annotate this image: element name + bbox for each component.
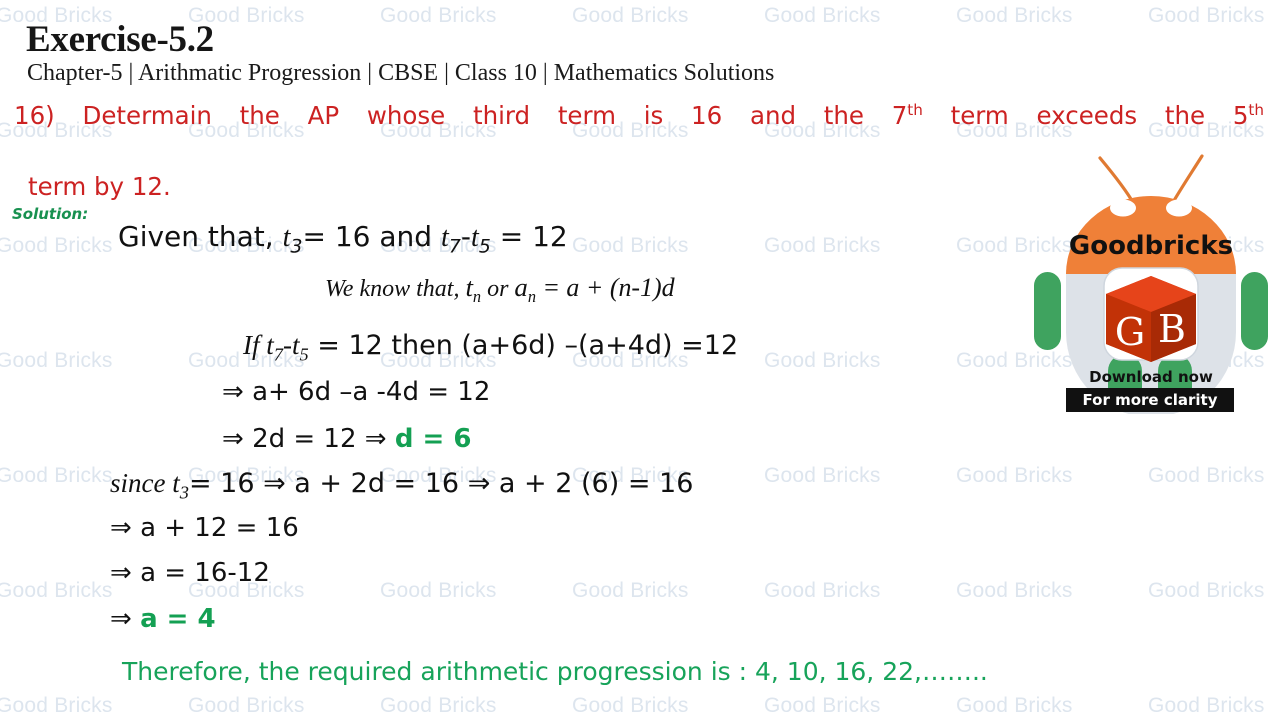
conclusion-text: Therefore, the required arithmetic progr… — [122, 657, 988, 686]
if-subscript-5: 5 — [299, 344, 308, 364]
since-equals-16: = 16 — [189, 468, 263, 499]
formula-t-symbol: t — [465, 272, 472, 302]
given-equals-16: = 16 and — [302, 220, 440, 253]
given-subscript-3: 3 — [290, 236, 302, 258]
implies-arrow-icon: ⇒ — [468, 468, 491, 499]
robot-arm-right — [1241, 272, 1268, 350]
slide-canvas: Good BricksGood BricksGood BricksGood Br… — [0, 0, 1280, 720]
robot-arm-left — [1034, 272, 1061, 350]
math-line-step-2: ⇒ 2d = 12 ⇒ d = 6 — [222, 424, 471, 454]
given-t7-symbol: t — [441, 222, 449, 253]
for-more-clarity-banner[interactable]: For more clarity — [1066, 388, 1234, 412]
since-substitution-2: a + 2 (6) = 16 — [490, 468, 693, 499]
implies-arrow-icon: ⇒ — [222, 377, 244, 407]
question-line-1-part-a: 16) Determain the AP whose third term is… — [14, 101, 907, 130]
math-line-formula: We know that, tn or an = a + (n-1)d — [325, 272, 675, 307]
given-minus: - — [461, 220, 471, 253]
implies-arrow-icon: ⇒ — [222, 424, 244, 454]
given-prefix: Given that, — [118, 220, 283, 253]
math-line-since: since t3= 16 ⇒ a + 2d = 16 ⇒ a + 2 (6) =… — [110, 468, 693, 503]
implies-arrow-icon: ⇒ — [365, 424, 387, 454]
math-line-step-1: ⇒ a+ 6d –a -4d = 12 — [222, 377, 490, 407]
if-minus: - — [283, 330, 292, 360]
result-first-term: a = 4 — [140, 604, 216, 634]
implies-arrow-icon: ⇒ — [110, 558, 132, 588]
math-line-step-4: ⇒ a = 16-12 — [110, 558, 270, 588]
antenna-right-icon — [1172, 156, 1202, 204]
given-subscript-5: 5 — [479, 236, 491, 258]
formula-body: = a + (n-1)d — [536, 273, 675, 302]
antenna-left-icon — [1100, 158, 1134, 204]
if-prefix: If — [243, 330, 266, 360]
math-line-step-3: ⇒ a + 12 = 16 — [110, 513, 299, 543]
implies-arrow-icon: ⇒ — [110, 513, 132, 543]
formula-or: or — [481, 276, 514, 302]
cube-letter-b: B — [1158, 307, 1186, 351]
page-title: Exercise-5.2 — [26, 18, 214, 61]
math-line-given: Given that, t3= 16 and t7-t5 = 12 — [118, 220, 568, 258]
implies-arrow-icon: ⇒ — [263, 468, 286, 499]
step-4-expression: a = 16-12 — [140, 558, 270, 588]
download-now-text: Download now — [1089, 368, 1213, 386]
page-subtitle: Chapter-5 | Arithmatic Progression | CBS… — [27, 60, 774, 87]
goodbricks-logo[interactable]: Goodbricks G B Download now — [1022, 142, 1280, 414]
formula-prefix: We know that, — [325, 276, 465, 302]
logo-brand-text: Goodbricks — [1069, 231, 1233, 261]
since-subscript-3: 3 — [180, 482, 189, 502]
step-3-expression: a + 12 = 16 — [140, 513, 299, 543]
given-value-12: = 12 — [491, 220, 568, 253]
question-superscript-7th: th — [907, 101, 923, 119]
given-subscript-7: 7 — [449, 236, 461, 258]
if-t7-symbol: t — [266, 330, 274, 360]
gb-cube-icon: G B — [1106, 276, 1196, 362]
step-1-expression: a+ 6d –a -4d = 12 — [252, 377, 490, 407]
result-common-difference: d = 6 — [395, 424, 472, 454]
question-superscript-5th: th — [1248, 101, 1264, 119]
if-subscript-7: 7 — [274, 344, 283, 364]
math-line-step-5: ⇒ a = 4 — [110, 604, 216, 634]
formula-a-symbol: a — [514, 272, 527, 302]
since-prefix: since — [110, 468, 172, 498]
since-substitution-1: a + 2d = 16 — [286, 468, 468, 499]
formula-subscript-n: n — [473, 287, 481, 306]
given-t5-symbol: t — [471, 222, 479, 253]
solution-label: Solution: — [12, 205, 88, 223]
math-line-if: If t7-t5 = 12 then (a+6d) –(a+4d) =12 — [243, 330, 738, 365]
robot-eye-right-icon — [1166, 200, 1192, 217]
since-t-symbol: t — [172, 468, 180, 498]
robot-eye-left-icon — [1110, 200, 1136, 217]
implies-arrow-icon: ⇒ — [110, 604, 132, 634]
formula-subscript-n2: n — [528, 287, 536, 306]
step-2-expression: 2d = 12 — [252, 424, 365, 454]
question-line-1-part-b: term exceeds the 5 — [923, 101, 1249, 130]
if-rest: = 12 then (a+6d) –(a+4d) =12 — [309, 330, 738, 361]
cube-letter-g: G — [1115, 310, 1145, 354]
